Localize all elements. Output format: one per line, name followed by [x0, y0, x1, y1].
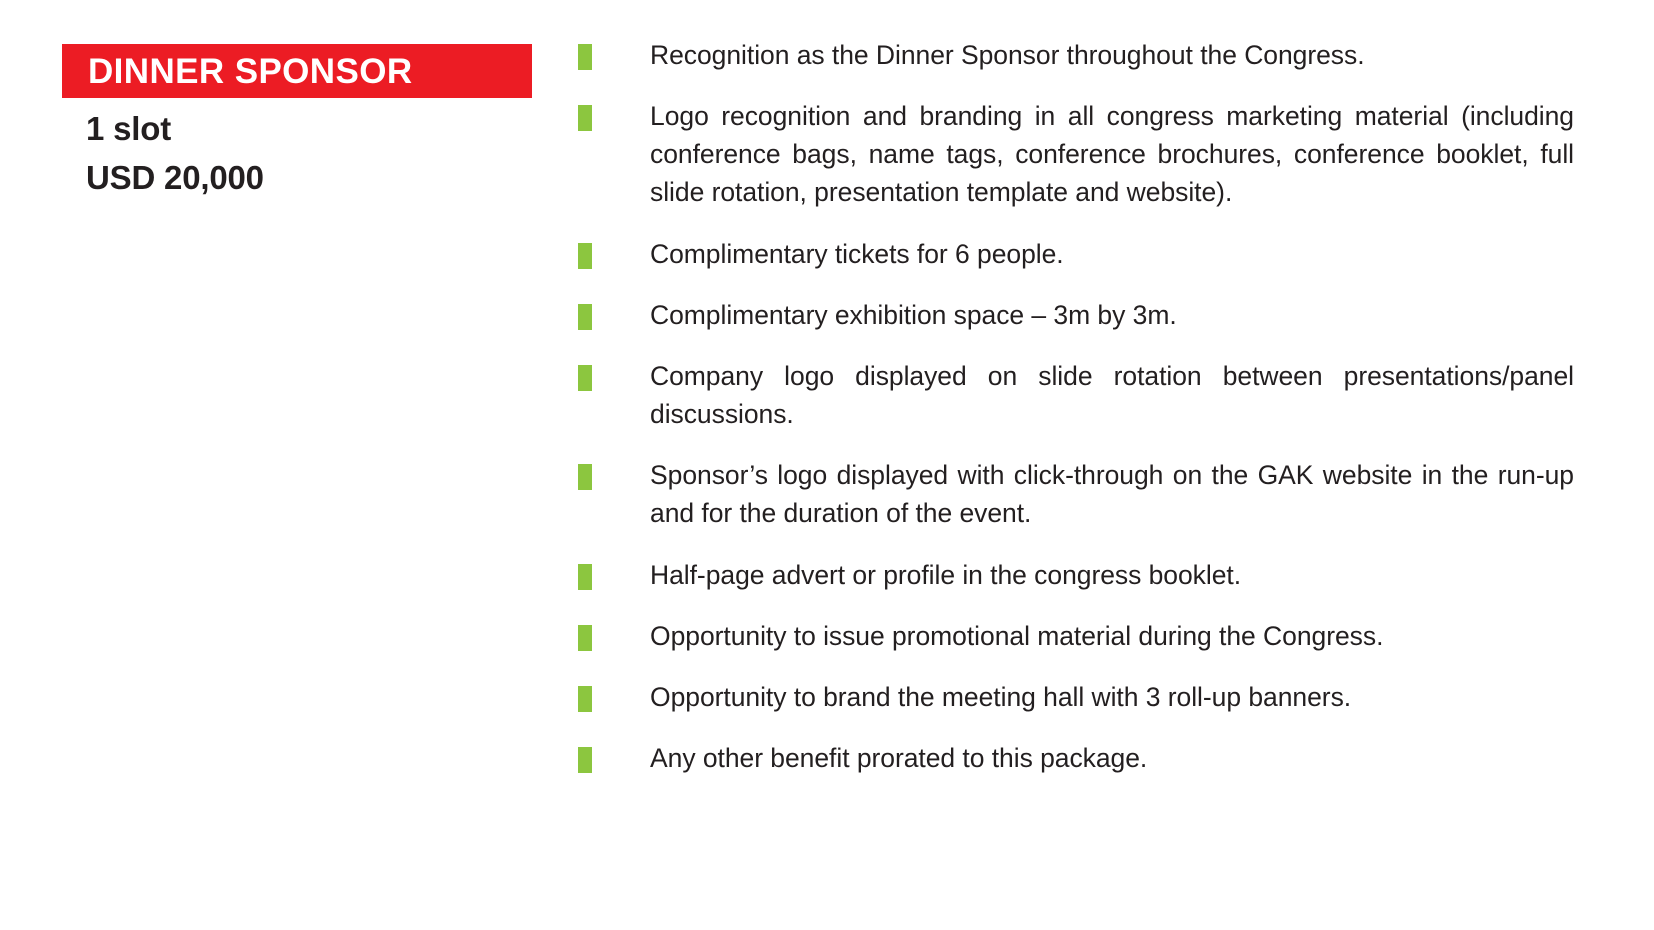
benefit-item: Opportunity to brand the meeting hall wi…	[578, 678, 1574, 716]
benefit-text: Half-page advert or profile in the congr…	[650, 556, 1574, 594]
benefit-item: Company logo displayed on slide rotation…	[578, 357, 1574, 433]
green-square-bullet-icon	[578, 464, 592, 490]
green-square-bullet-icon	[578, 625, 592, 651]
green-square-bullet-icon	[578, 243, 592, 269]
tier-price: USD 20,000	[86, 154, 532, 203]
green-square-bullet-icon	[578, 365, 592, 391]
benefit-item: Opportunity to issue promotional materia…	[578, 617, 1574, 655]
benefit-item: Sponsor’s logo displayed with click-thro…	[578, 456, 1574, 532]
tier-title: DINNER SPONSOR	[88, 54, 413, 89]
benefit-text: Opportunity to brand the meeting hall wi…	[650, 678, 1574, 716]
benefit-item: Recognition as the Dinner Sponsor throug…	[578, 36, 1574, 74]
benefit-text: Complimentary exhibition space – 3m by 3…	[650, 296, 1574, 334]
green-square-bullet-icon	[578, 564, 592, 590]
benefit-text: Sponsor’s logo displayed with click-thro…	[650, 456, 1574, 532]
tier-summary-panel: DINNER SPONSOR 1 slot USD 20,000	[62, 44, 532, 203]
benefit-text: Company logo displayed on slide rotation…	[650, 357, 1574, 433]
benefit-text: Any other benefit prorated to this packa…	[650, 739, 1574, 777]
green-square-bullet-icon	[578, 304, 592, 330]
sponsorship-tier-page: DINNER SPONSOR 1 slot USD 20,000 Recogni…	[0, 0, 1654, 930]
benefit-item: Logo recognition and branding in all con…	[578, 97, 1574, 211]
tier-title-banner: DINNER SPONSOR	[62, 44, 532, 98]
benefit-text: Opportunity to issue promotional materia…	[650, 617, 1574, 655]
benefits-list: Recognition as the Dinner Sponsor throug…	[578, 36, 1574, 777]
benefit-item: Complimentary tickets for 6 people.	[578, 235, 1574, 273]
tier-meta: 1 slot USD 20,000	[62, 105, 532, 203]
green-square-bullet-icon	[578, 105, 592, 131]
benefit-text: Recognition as the Dinner Sponsor throug…	[650, 36, 1574, 74]
green-square-bullet-icon	[578, 686, 592, 712]
benefit-item: Half-page advert or profile in the congr…	[578, 556, 1574, 594]
tier-slot-count: 1 slot	[86, 105, 532, 154]
benefit-text: Logo recognition and branding in all con…	[650, 97, 1574, 211]
green-square-bullet-icon	[578, 44, 592, 70]
benefit-text: Complimentary tickets for 6 people.	[650, 235, 1574, 273]
benefit-item: Complimentary exhibition space – 3m by 3…	[578, 296, 1574, 334]
benefit-item: Any other benefit prorated to this packa…	[578, 739, 1574, 777]
green-square-bullet-icon	[578, 747, 592, 773]
